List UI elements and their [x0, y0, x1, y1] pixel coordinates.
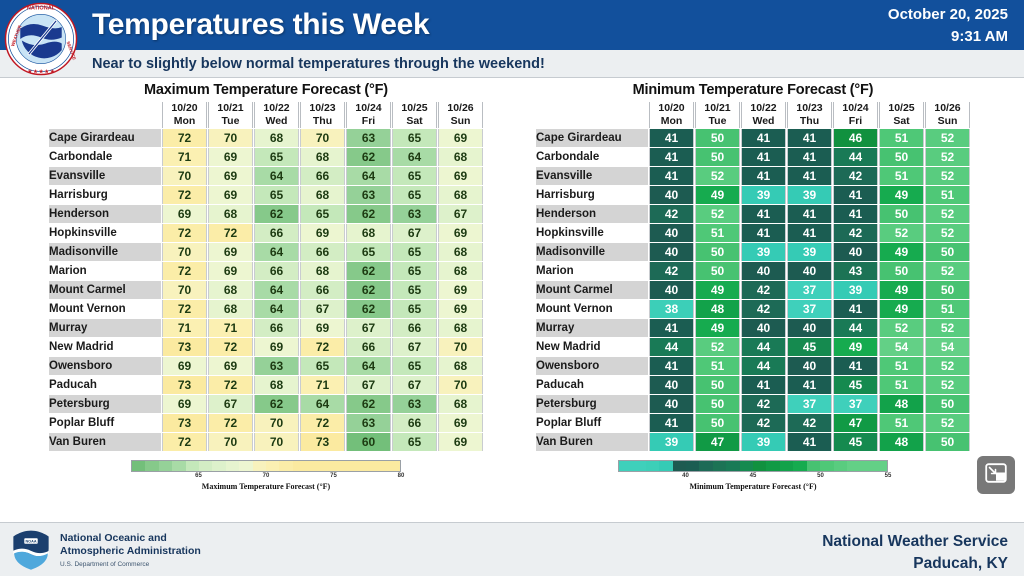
- min-colorbar-ticks: 40455055: [618, 472, 888, 483]
- city-name-cell: Evansville: [49, 167, 161, 185]
- temperature-cell: 63: [346, 414, 391, 432]
- temperature-cell: 72: [208, 338, 253, 356]
- city-name-cell: Mount Vernon: [536, 300, 648, 318]
- temperature-cell: 41: [649, 319, 694, 337]
- table-row: Carbondale41504141445052: [536, 148, 970, 166]
- temperature-cell: 64: [254, 167, 299, 185]
- temperature-cell: 62: [346, 205, 391, 223]
- temperature-cell: 66: [254, 224, 299, 242]
- temperature-cell: 47: [695, 433, 740, 451]
- temperature-cell: 67: [300, 300, 345, 318]
- day-date: 10/21: [696, 102, 739, 115]
- temperature-cell: 54: [879, 338, 924, 356]
- temperature-cell: 50: [925, 243, 970, 261]
- temperature-cell: 41: [787, 224, 832, 242]
- temperature-cell: 73: [300, 433, 345, 451]
- page-title: Temperatures this Week: [92, 8, 429, 42]
- temperature-cell: 69: [438, 433, 483, 451]
- city-name-cell: Marion: [49, 262, 161, 280]
- temperature-cell: 50: [695, 148, 740, 166]
- day-date: 10/25: [880, 102, 923, 115]
- table-row: Marion72696668626568: [49, 262, 483, 280]
- temperature-cell: 41: [833, 186, 878, 204]
- temperature-cell: 52: [925, 376, 970, 394]
- table-row: Poplar Bluff41504242475152: [536, 414, 970, 432]
- day-name: Tue: [696, 115, 739, 128]
- temperature-cell: 72: [162, 224, 207, 242]
- temperature-cell: 52: [925, 167, 970, 185]
- temperature-cell: 62: [346, 281, 391, 299]
- day-date: 10/22: [255, 102, 298, 115]
- temperature-cell: 62: [346, 148, 391, 166]
- city-name-cell: Petersburg: [49, 395, 161, 413]
- temperature-cell: 50: [695, 395, 740, 413]
- day-date: 10/20: [650, 102, 693, 115]
- temperature-cell: 73: [162, 414, 207, 432]
- day-name: Thu: [788, 115, 831, 128]
- temperature-cell: 39: [787, 186, 832, 204]
- day-column-header: 10/26Sun: [925, 102, 970, 128]
- day-name: Sun: [926, 115, 969, 128]
- temperature-cell: 65: [392, 433, 437, 451]
- colorbar-tick-label: 45: [750, 473, 757, 479]
- temperature-cell: 41: [741, 129, 786, 147]
- table-row: Van Buren72707073606569: [49, 433, 483, 451]
- temperature-cell: 50: [695, 376, 740, 394]
- temperature-cell: 69: [162, 205, 207, 223]
- temperature-cell: 49: [879, 186, 924, 204]
- day-date: 10/24: [347, 102, 390, 115]
- table-row: Hopkinsville40514141425252: [536, 224, 970, 242]
- temperature-cell: 42: [833, 224, 878, 242]
- city-name-cell: Petersburg: [536, 395, 648, 413]
- temperature-cell: 37: [787, 395, 832, 413]
- day-column-header: 10/23Thu: [787, 102, 832, 128]
- temperature-cell: 66: [300, 167, 345, 185]
- temperature-cell: 50: [925, 395, 970, 413]
- temperature-cell: 65: [392, 357, 437, 375]
- temperature-cell: 46: [833, 129, 878, 147]
- table-row: Owensboro69696365646568: [49, 357, 483, 375]
- colorbar-tick-label: 55: [885, 473, 892, 479]
- temperature-cell: 50: [695, 243, 740, 261]
- city-name-cell: Henderson: [49, 205, 161, 223]
- temperature-cell: 71: [300, 376, 345, 394]
- city-column-header: [536, 102, 648, 128]
- temperature-cell: 39: [787, 243, 832, 261]
- table-row: Murray71716669676668: [49, 319, 483, 337]
- temperature-cell: 50: [879, 262, 924, 280]
- temperature-cell: 49: [879, 243, 924, 261]
- city-name-cell: Mount Carmel: [536, 281, 648, 299]
- subheader-bar: Near to slightly below normal temperatur…: [0, 50, 1024, 78]
- temperature-cell: 65: [254, 186, 299, 204]
- temperature-cell: 60: [346, 433, 391, 451]
- temperature-cell: 69: [438, 167, 483, 185]
- day-name: Sun: [439, 115, 482, 128]
- max-colorbar-label: Maximum Temperature Forecast (°F): [131, 482, 401, 491]
- temperature-cell: 52: [925, 357, 970, 375]
- city-name-cell: Murray: [49, 319, 161, 337]
- temperature-cell: 41: [833, 205, 878, 223]
- temperature-cell: 39: [741, 243, 786, 261]
- temperature-cell: 45: [787, 338, 832, 356]
- min-temperature-table: 10/20Mon10/21Tue10/22Wed10/23Thu10/24Fri…: [535, 101, 971, 452]
- temperature-cell: 52: [925, 205, 970, 223]
- city-name-cell: Poplar Bluff: [536, 414, 648, 432]
- temperature-cell: 69: [254, 338, 299, 356]
- table-row: Owensboro41514440415152: [536, 357, 970, 375]
- day-date: 10/26: [439, 102, 482, 115]
- table-row: Mount Vernon38484237414951: [536, 300, 970, 318]
- temperature-cell: 63: [392, 395, 437, 413]
- temperature-cell: 66: [254, 262, 299, 280]
- temperature-cell: 39: [649, 433, 694, 451]
- temperature-cell: 51: [925, 300, 970, 318]
- colorbar-tick-label: 80: [398, 473, 405, 479]
- temperature-cell: 70: [208, 433, 253, 451]
- temperature-cell: 70: [438, 338, 483, 356]
- day-name: Wed: [255, 115, 298, 128]
- city-name-cell: Murray: [536, 319, 648, 337]
- temperature-cell: 40: [649, 376, 694, 394]
- temperature-cell: 62: [346, 395, 391, 413]
- day-name: Sat: [393, 115, 436, 128]
- temperature-cell: 40: [649, 281, 694, 299]
- colorbar-segment: [883, 461, 887, 471]
- city-name-cell: Madisonville: [49, 243, 161, 261]
- temperature-cell: 65: [254, 148, 299, 166]
- city-name-cell: Owensboro: [536, 357, 648, 375]
- max-panel-title: Maximum Temperature Forecast (°F): [48, 82, 484, 98]
- city-name-cell: Van Buren: [49, 433, 161, 451]
- table-row: Petersburg69676264626368: [49, 395, 483, 413]
- temperature-cell: 68: [300, 186, 345, 204]
- temperature-cell: 42: [741, 414, 786, 432]
- temperature-cell: 67: [438, 205, 483, 223]
- temperature-cell: 41: [833, 357, 878, 375]
- temperature-cell: 70: [254, 414, 299, 432]
- temperature-cell: 40: [649, 243, 694, 261]
- min-panel-title: Minimum Temperature Forecast (°F): [535, 82, 971, 98]
- header-datetime: October 20, 2025 9:31 AM: [888, 4, 1008, 48]
- temperature-cell: 51: [879, 357, 924, 375]
- table-row: New Madrid73726972666770: [49, 338, 483, 356]
- office-location: Paducah, KY: [822, 553, 1008, 575]
- temperature-cell: 65: [300, 357, 345, 375]
- temperature-cell: 70: [300, 129, 345, 147]
- temperature-cell: 72: [162, 129, 207, 147]
- table-row: Mount Carmel70686466626569: [49, 281, 483, 299]
- temperature-cell: 47: [833, 414, 878, 432]
- temperature-cell: 44: [741, 338, 786, 356]
- city-name-cell: Owensboro: [49, 357, 161, 375]
- temperature-cell: 70: [162, 281, 207, 299]
- temperature-cell: 52: [925, 319, 970, 337]
- temperature-cell: 49: [879, 300, 924, 318]
- temperature-cell: 45: [833, 376, 878, 394]
- temperature-cell: 66: [300, 243, 345, 261]
- table-row: Mount Vernon72686467626569: [49, 300, 483, 318]
- table-row: Paducah40504141455152: [536, 376, 970, 394]
- temperature-cell: 51: [879, 129, 924, 147]
- temperature-cell: 62: [254, 395, 299, 413]
- temperature-cell: 72: [208, 224, 253, 242]
- day-date: 10/23: [301, 102, 344, 115]
- temperature-cell: 40: [741, 319, 786, 337]
- temperature-cell: 69: [300, 319, 345, 337]
- city-name-cell: Carbondale: [536, 148, 648, 166]
- city-name-cell: Harrisburg: [536, 186, 648, 204]
- temperature-cell: 68: [208, 300, 253, 318]
- temperature-cell: 66: [300, 281, 345, 299]
- temperature-cell: 41: [741, 148, 786, 166]
- day-date: 10/22: [742, 102, 785, 115]
- temperature-cell: 68: [300, 148, 345, 166]
- table-row: Murray41494040445252: [536, 319, 970, 337]
- day-column-header: 10/20Mon: [649, 102, 694, 128]
- temperature-cell: 42: [649, 262, 694, 280]
- min-colorbar-gradient: [618, 460, 888, 472]
- temperature-cell: 37: [787, 281, 832, 299]
- subheader-message: Near to slightly below normal temperatur…: [92, 56, 545, 72]
- temperature-cell: 73: [162, 376, 207, 394]
- temperature-cell: 41: [649, 414, 694, 432]
- temperature-cell: 50: [695, 262, 740, 280]
- page-header: NATIONAL ★ ★ ★ ★ ★ WEATHER SERVICE Tempe…: [0, 0, 1024, 50]
- temperature-cell: 69: [208, 357, 253, 375]
- table-row: Henderson42524141415052: [536, 205, 970, 223]
- temperature-cell: 52: [695, 205, 740, 223]
- temperature-cell: 48: [879, 395, 924, 413]
- noaa-line-2: Atmospheric Administration: [60, 545, 201, 558]
- temperature-cell: 41: [649, 167, 694, 185]
- noaa-logo-icon: NOAA: [10, 529, 52, 571]
- table-row: Paducah73726871676770: [49, 376, 483, 394]
- temperature-cell: 69: [162, 357, 207, 375]
- temperature-cell: 51: [879, 376, 924, 394]
- temperature-cell: 42: [833, 167, 878, 185]
- day-date: 10/24: [834, 102, 877, 115]
- day-name: Mon: [163, 115, 206, 128]
- temperature-cell: 44: [649, 338, 694, 356]
- temperature-cell: 69: [208, 186, 253, 204]
- city-name-cell: Cape Girardeau: [49, 129, 161, 147]
- temperature-cell: 67: [392, 338, 437, 356]
- temperature-cell: 51: [879, 414, 924, 432]
- temperature-cell: 69: [208, 167, 253, 185]
- day-column-header: 10/20Mon: [162, 102, 207, 128]
- office-identification: National Weather Service Paducah, KY: [822, 531, 1008, 574]
- temperature-cell: 51: [695, 224, 740, 242]
- temperature-cell: 48: [695, 300, 740, 318]
- city-name-cell: Henderson: [536, 205, 648, 223]
- temperature-cell: 50: [925, 433, 970, 451]
- temperature-cell: 50: [879, 148, 924, 166]
- temperature-cell: 41: [741, 205, 786, 223]
- temperature-cell: 45: [833, 433, 878, 451]
- temperature-cell: 40: [787, 357, 832, 375]
- temperature-cell: 62: [346, 300, 391, 318]
- temperature-cell: 68: [438, 395, 483, 413]
- temperature-cell: 68: [208, 205, 253, 223]
- temperature-cell: 63: [392, 205, 437, 223]
- city-name-cell: Madisonville: [536, 243, 648, 261]
- temperature-cell: 68: [438, 357, 483, 375]
- temperature-cell: 37: [833, 395, 878, 413]
- temperature-cell: 39: [833, 281, 878, 299]
- temperature-cell: 52: [879, 224, 924, 242]
- temperature-cell: 40: [649, 186, 694, 204]
- table-row: Evansville41524141425152: [536, 167, 970, 185]
- temperature-cell: 41: [741, 376, 786, 394]
- temperature-cell: 63: [346, 129, 391, 147]
- city-column-header: [49, 102, 161, 128]
- table-row: New Madrid44524445495454: [536, 338, 970, 356]
- picture-in-picture-icon: [985, 463, 1007, 488]
- table-row: Marion42504040435052: [536, 262, 970, 280]
- colorbar-tick-label: 70: [263, 473, 270, 479]
- temperature-cell: 38: [649, 300, 694, 318]
- temperature-cell: 52: [879, 319, 924, 337]
- temperature-cell: 65: [300, 205, 345, 223]
- temperature-cell: 64: [254, 300, 299, 318]
- temperature-cell: 42: [741, 395, 786, 413]
- temperature-cell: 50: [879, 205, 924, 223]
- temperature-cell: 69: [438, 281, 483, 299]
- day-column-header: 10/21Tue: [695, 102, 740, 128]
- temperature-cell: 50: [695, 414, 740, 432]
- temperature-cell: 48: [879, 433, 924, 451]
- min-colorbar: 40455055 Minimum Temperature Forecast (°…: [535, 460, 971, 491]
- day-name: Mon: [650, 115, 693, 128]
- table-row: Mount Carmel40494237394950: [536, 281, 970, 299]
- temperature-cell: 69: [162, 395, 207, 413]
- temperature-cell: 42: [649, 205, 694, 223]
- picture-in-picture-button[interactable]: [977, 456, 1015, 494]
- temperature-cell: 70: [162, 243, 207, 261]
- temperature-cell: 68: [254, 129, 299, 147]
- temperature-cell: 49: [833, 338, 878, 356]
- temperature-cell: 40: [649, 395, 694, 413]
- table-row: Madisonville70696466656568: [49, 243, 483, 261]
- city-name-cell: Paducah: [49, 376, 161, 394]
- temperature-cell: 54: [925, 338, 970, 356]
- temperature-cell: 69: [208, 243, 253, 261]
- colorbar-tick-label: 50: [817, 473, 824, 479]
- temperature-cell: 40: [649, 224, 694, 242]
- temperature-cell: 49: [879, 281, 924, 299]
- temperature-cell: 42: [787, 414, 832, 432]
- temperature-cell: 72: [162, 433, 207, 451]
- temperature-cell: 72: [300, 338, 345, 356]
- table-row: Henderson69686265626367: [49, 205, 483, 223]
- temperature-cell: 67: [392, 376, 437, 394]
- temperature-cell: 52: [925, 129, 970, 147]
- temperature-cell: 72: [300, 414, 345, 432]
- page-footer: NOAA National Oceanic and Atmospheric Ad…: [0, 522, 1024, 576]
- table-row: Evansville70696466646569: [49, 167, 483, 185]
- temperature-cell: 40: [787, 319, 832, 337]
- city-name-cell: Poplar Bluff: [49, 414, 161, 432]
- temperature-cell: 73: [162, 338, 207, 356]
- city-name-cell: Mount Carmel: [49, 281, 161, 299]
- temperature-cell: 41: [833, 300, 878, 318]
- national-weather-service-seal-icon: NATIONAL ★ ★ ★ ★ ★ WEATHER SERVICE: [4, 2, 78, 76]
- temperature-cell: 68: [346, 224, 391, 242]
- temperature-cell: 41: [649, 357, 694, 375]
- day-column-header: 10/24Fri: [833, 102, 878, 128]
- temperature-cell: 41: [787, 376, 832, 394]
- day-name: Wed: [742, 115, 785, 128]
- day-date: 10/23: [788, 102, 831, 115]
- day-column-header: 10/21Tue: [208, 102, 253, 128]
- temperature-cell: 41: [787, 129, 832, 147]
- temperature-cell: 41: [649, 148, 694, 166]
- temperature-cell: 69: [208, 262, 253, 280]
- temperature-cell: 69: [438, 414, 483, 432]
- temperature-cell: 66: [346, 338, 391, 356]
- temperature-cell: 64: [300, 395, 345, 413]
- temperature-cell: 66: [254, 319, 299, 337]
- temperature-cell: 67: [346, 319, 391, 337]
- temperature-cell: 41: [741, 167, 786, 185]
- noaa-line-1: National Oceanic and: [60, 532, 201, 545]
- header-time: 9:31 AM: [888, 26, 1008, 48]
- svg-text:NOAA: NOAA: [25, 539, 36, 543]
- temperature-cell: 65: [392, 300, 437, 318]
- svg-text:NATIONAL: NATIONAL: [27, 5, 56, 11]
- temperature-cell: 69: [300, 224, 345, 242]
- max-temperature-panel: Maximum Temperature Forecast (°F) 10/20M…: [48, 82, 484, 491]
- colorbar-tick-label: 65: [195, 473, 202, 479]
- temperature-cell: 69: [438, 224, 483, 242]
- temperature-cell: 64: [392, 148, 437, 166]
- max-colorbar-ticks: 65707580: [131, 472, 401, 483]
- temperature-cell: 68: [438, 243, 483, 261]
- temperature-cell: 65: [392, 129, 437, 147]
- temperature-cell: 69: [438, 300, 483, 318]
- max-temperature-table: 10/20Mon10/21Tue10/22Wed10/23Thu10/24Fri…: [48, 101, 484, 452]
- city-name-cell: New Madrid: [536, 338, 648, 356]
- temperature-cell: 67: [392, 224, 437, 242]
- temperature-cell: 41: [787, 205, 832, 223]
- day-date: 10/21: [209, 102, 252, 115]
- temperature-cell: 69: [208, 148, 253, 166]
- temperature-cell: 71: [162, 148, 207, 166]
- temperature-cell: 51: [925, 186, 970, 204]
- temperature-cell: 43: [833, 262, 878, 280]
- temperature-cell: 72: [162, 186, 207, 204]
- table-row: Harrisburg40493939414951: [536, 186, 970, 204]
- temperature-cell: 52: [925, 262, 970, 280]
- city-name-cell: Paducah: [536, 376, 648, 394]
- temperature-cell: 68: [300, 262, 345, 280]
- header-date: October 20, 2025: [888, 4, 1008, 26]
- temperature-cell: 64: [346, 167, 391, 185]
- city-name-cell: Carbondale: [49, 148, 161, 166]
- temperature-cell: 66: [392, 319, 437, 337]
- day-date: 10/20: [163, 102, 206, 115]
- temperature-cell: 65: [392, 186, 437, 204]
- day-column-header: 10/24Fri: [346, 102, 391, 128]
- office-name: National Weather Service: [822, 531, 1008, 553]
- temperature-cell: 69: [438, 129, 483, 147]
- city-name-cell: Marion: [536, 262, 648, 280]
- table-row: Petersburg40504237374850: [536, 395, 970, 413]
- temperature-cell: 64: [254, 243, 299, 261]
- temperature-cell: 41: [787, 148, 832, 166]
